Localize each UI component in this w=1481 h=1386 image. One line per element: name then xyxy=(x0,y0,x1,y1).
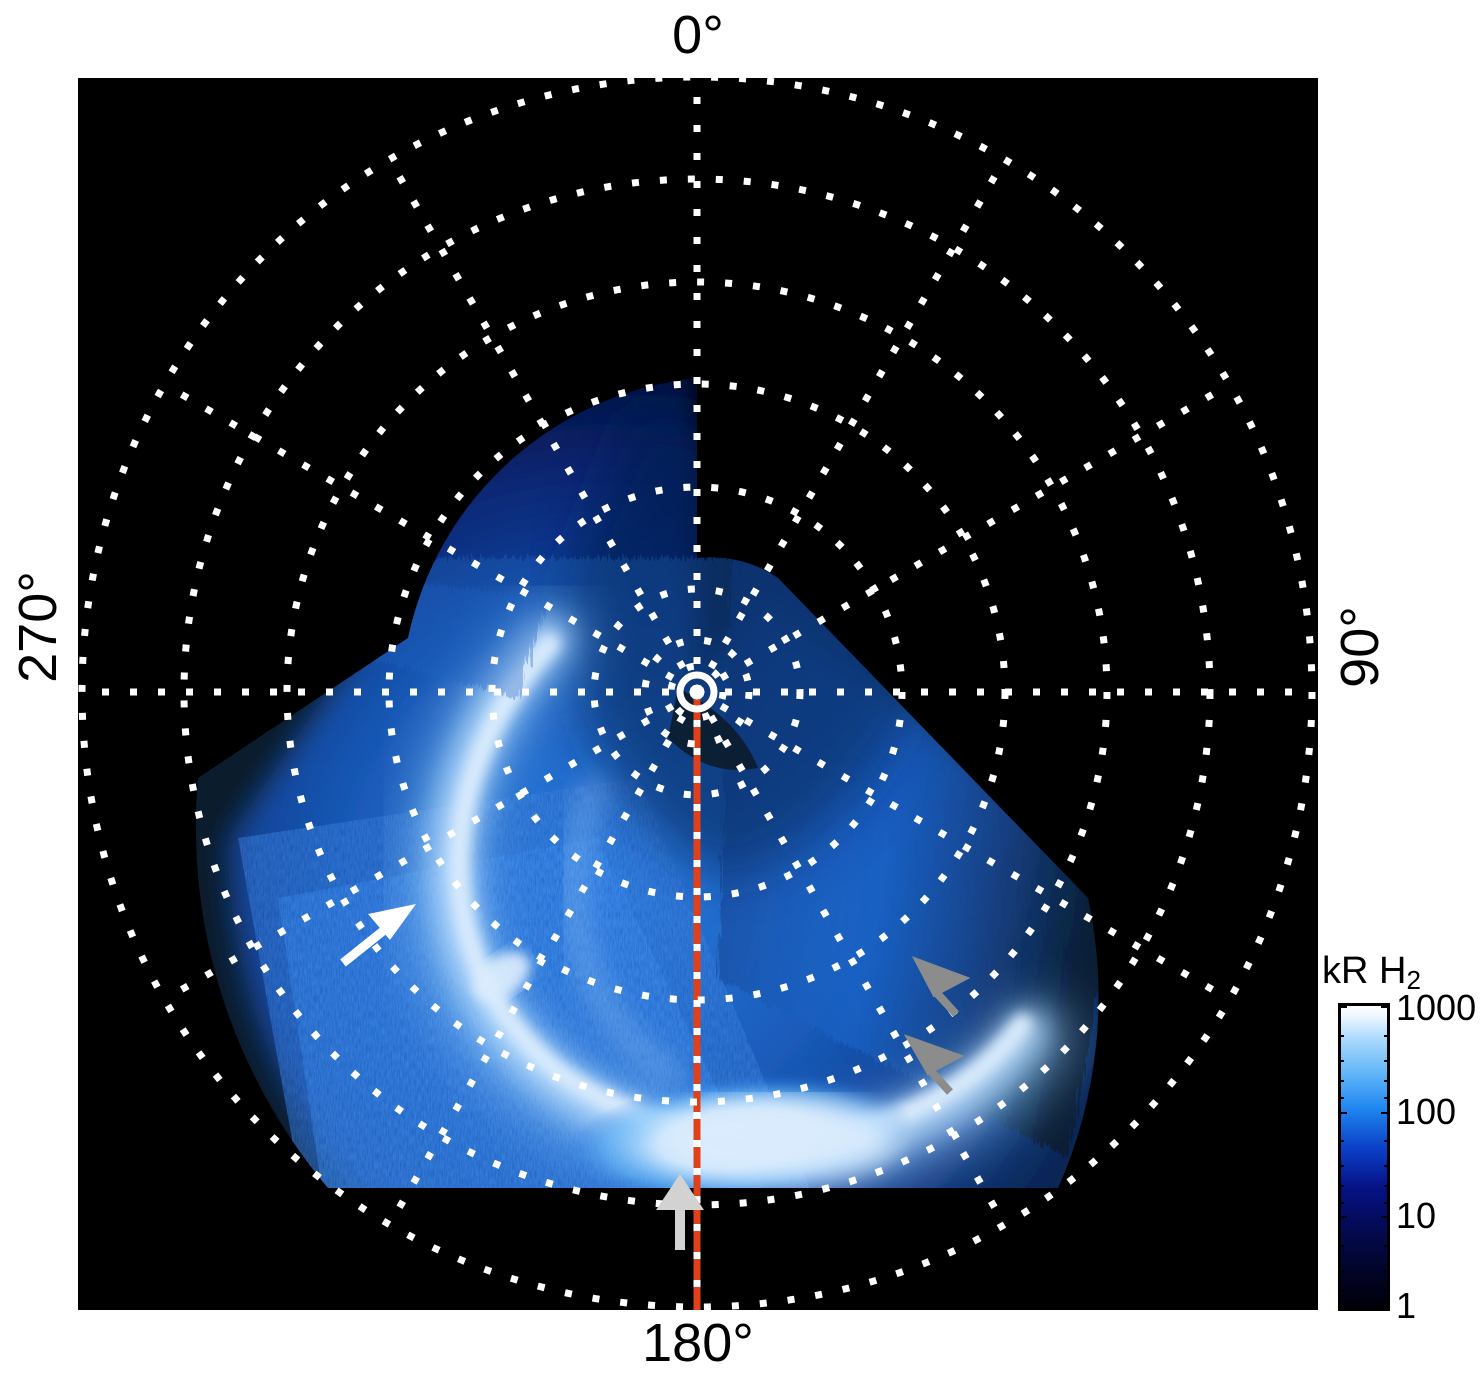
colorbar-tick-labels: 1000 100 10 1 xyxy=(1396,990,1481,1320)
figure-root: 0° 180° 270° 90° xyxy=(0,0,1481,1386)
azimuth-label-270: 270° xyxy=(11,567,65,687)
azimuth-label-90: 90° xyxy=(1333,587,1387,707)
aurora-image-data xyxy=(78,328,1178,1238)
colorbar: kR H2 xyxy=(1322,950,1481,1330)
azimuth-label-0: 0° xyxy=(0,8,1396,62)
colorbar-ticks xyxy=(1338,1003,1390,1311)
polar-plot-svg xyxy=(78,78,1318,1310)
colorbar-tick-10: 10 xyxy=(1396,1198,1436,1234)
colorbar-tick-1: 1 xyxy=(1396,1288,1416,1324)
colorbar-tick-1000: 1000 xyxy=(1396,990,1476,1026)
colorbar-tick-100: 100 xyxy=(1396,1094,1456,1130)
scan-striping xyxy=(78,558,1178,1238)
polar-plot-area xyxy=(78,78,1318,1310)
colorbar-title-text: kR H xyxy=(1322,950,1406,992)
azimuth-label-180: 180° xyxy=(0,1316,1396,1370)
